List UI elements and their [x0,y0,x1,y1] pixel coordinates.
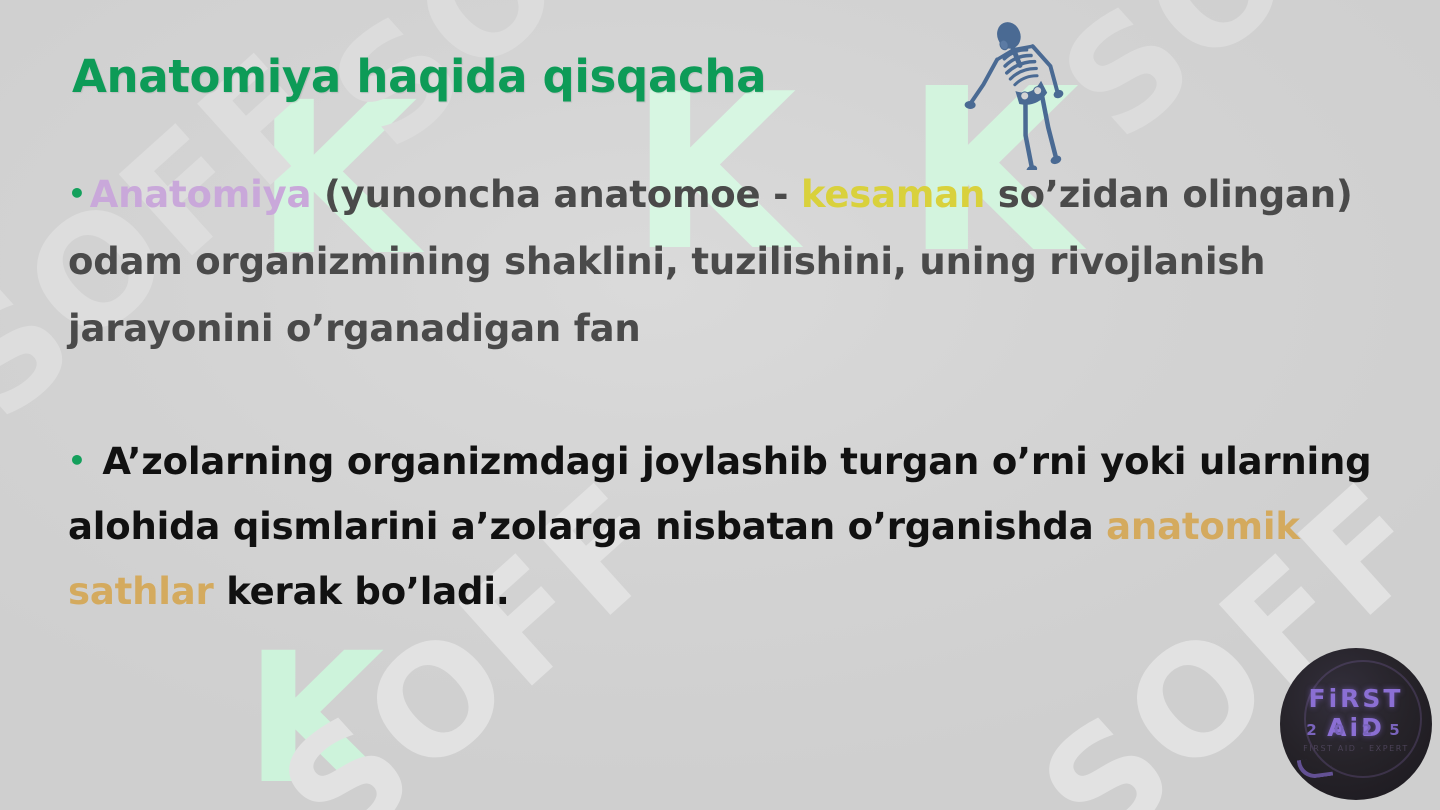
slide-canvas: K K K K SOFF SOFF SOFF SOFF SOFF [0,0,1440,810]
watermark-k-mark: K [245,630,384,810]
highlight-anatomiya: Anatomiya [90,173,312,216]
paragraph-1-segment-a: (yunoncha anatomoe - [311,173,801,216]
highlight-kesaman: kesaman [801,173,985,216]
bullet-paragraph-1: •Anatomiya (yunoncha anatomoe - kesaman … [68,160,1388,362]
logo-year: 2 0 2 5 [1280,721,1432,739]
bullet-marker: • [68,444,86,477]
watermark-soff-text: SOFF [1030,0,1440,173]
paragraph-2-segment-b: kerak bo’ladi. [214,570,510,613]
background-watermark-layer: K K K K SOFF SOFF SOFF SOFF SOFF [0,0,1440,810]
bullet-paragraph-2: • A’zolarning organizmdagi joylashib tur… [68,428,1388,624]
logo-tagline: FIRST AID · EXPERT [1280,744,1432,753]
bullet-marker: • [68,177,86,210]
skeleton-icon [958,8,1088,170]
logo-swoosh-icon [1297,756,1333,781]
first-aid-logo-badge[interactable]: FiRST AiD 2 0 2 5 FIRST AID · EXPERT [1280,648,1432,800]
page-title: Anatomiya haqida qisqacha [72,50,766,103]
